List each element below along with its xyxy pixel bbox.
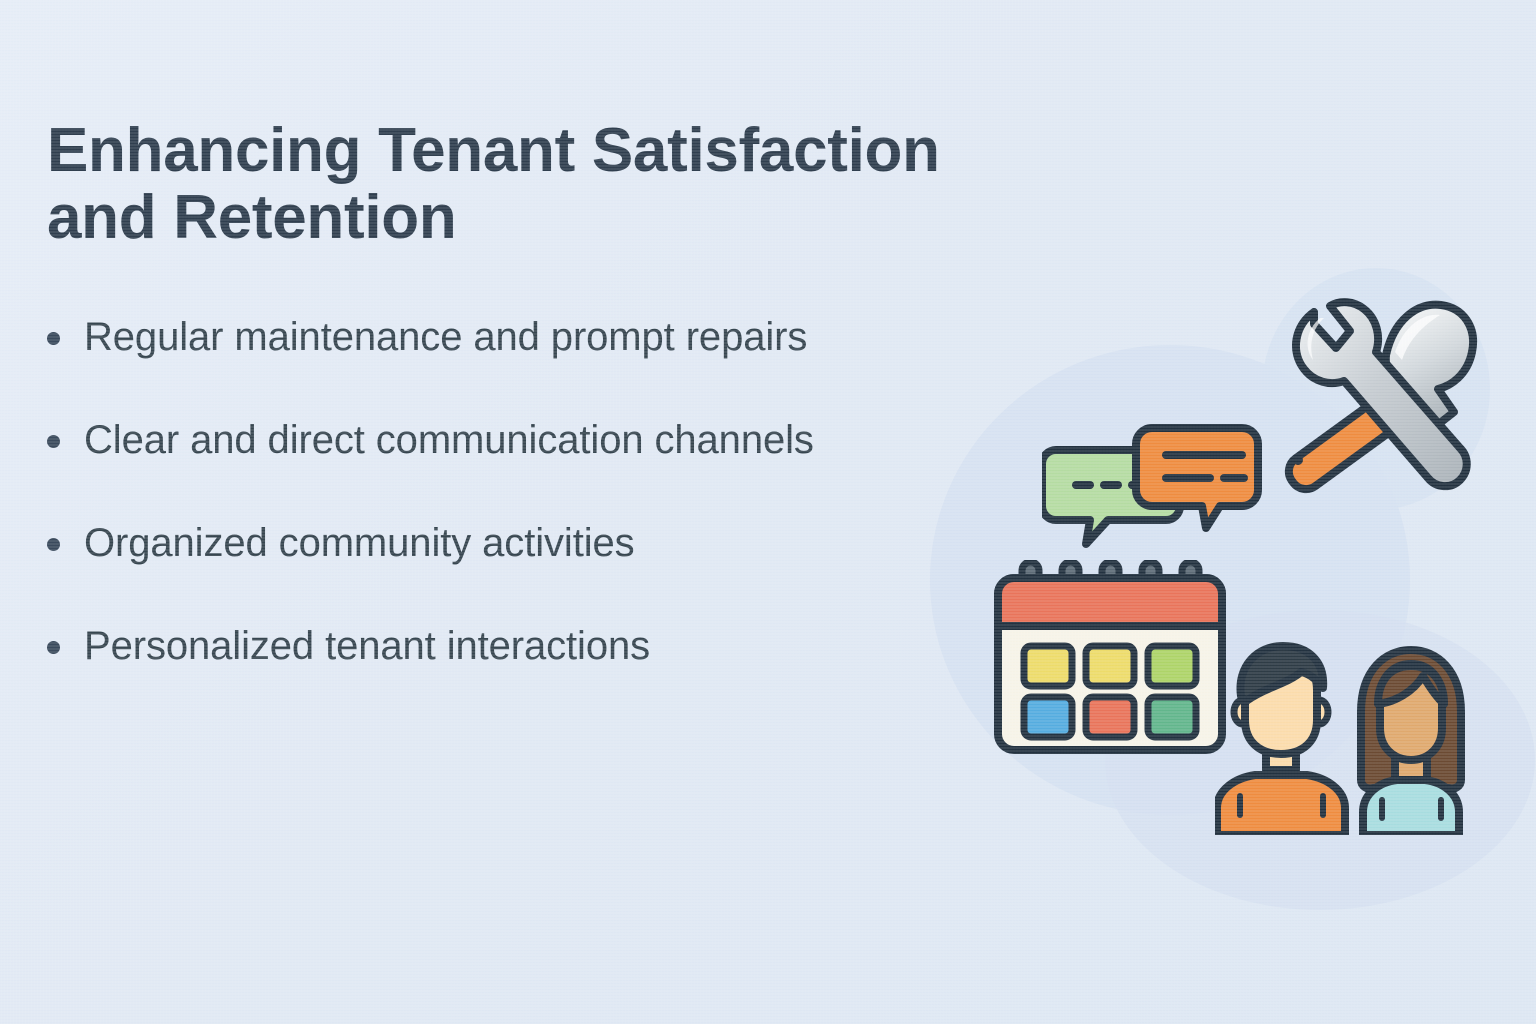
tools-icon <box>1268 292 1493 502</box>
list-item: Organized community activities <box>47 520 1087 567</box>
avatar-woman <box>1361 650 1461 835</box>
page-title: Enhancing Tenant Satisfaction and Retent… <box>47 118 1087 252</box>
bullet-dot-icon <box>47 332 60 345</box>
list-item-label: Regular maintenance and prompt repairs <box>84 314 807 361</box>
calendar-icon <box>990 560 1230 755</box>
bullet-dot-icon <box>47 538 60 551</box>
slide-canvas: Enhancing Tenant Satisfaction and Retent… <box>0 0 1536 1024</box>
list-item: Regular maintenance and prompt repairs <box>47 314 1087 361</box>
people-icon <box>1215 640 1500 835</box>
bullet-dot-icon <box>47 641 60 654</box>
chat-bubbles-icon <box>1042 422 1262 550</box>
list-item-label: Personalized tenant interactions <box>84 623 650 670</box>
avatar-man <box>1217 646 1345 835</box>
bullet-list: Regular maintenance and prompt repairs C… <box>47 314 1087 671</box>
list-item-label: Clear and direct communication channels <box>84 417 814 464</box>
list-item: Personalized tenant interactions <box>47 623 1087 670</box>
illustration-group <box>980 270 1520 840</box>
text-column: Enhancing Tenant Satisfaction and Retent… <box>47 118 1087 727</box>
list-item: Clear and direct communication channels <box>47 417 1087 464</box>
calendar-header <box>998 578 1222 626</box>
list-item-label: Organized community activities <box>84 520 635 567</box>
bullet-dot-icon <box>47 435 60 448</box>
